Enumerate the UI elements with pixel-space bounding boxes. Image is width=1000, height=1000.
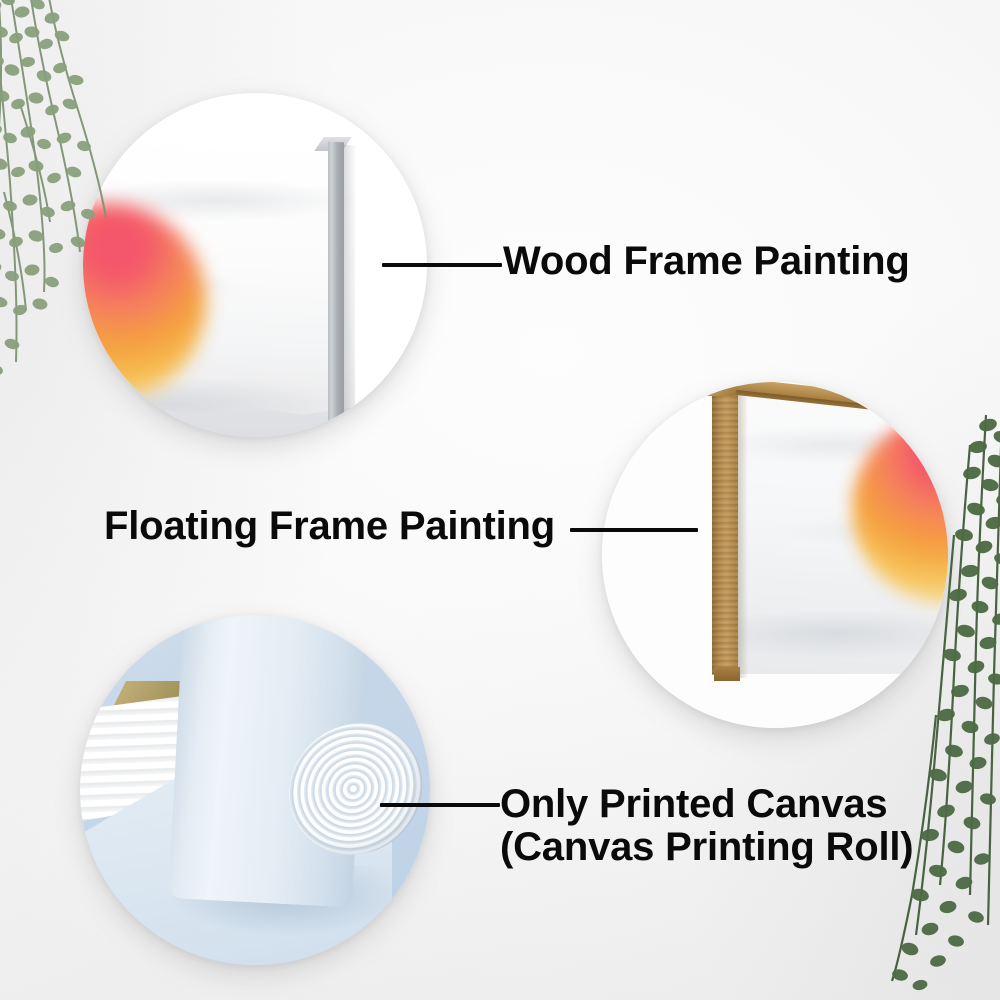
label-only-printed-canvas: Only Printed Canvas (Canvas Printing Rol… xyxy=(500,783,913,869)
wood-frame-left-rail xyxy=(712,385,738,676)
label-floating-frame-painting: Floating Frame Painting xyxy=(104,505,555,548)
label-wood-frame-painting: Wood Frame Painting xyxy=(503,240,910,283)
frame-gap-shadow xyxy=(738,386,748,678)
photo-inset-wood-frame xyxy=(83,93,427,437)
connector-line-floating-frame xyxy=(570,528,698,532)
floating-frame-photo xyxy=(602,382,948,728)
label-line-2: (Canvas Printing Roll) xyxy=(500,826,913,869)
connector-line-wood-frame xyxy=(382,263,502,267)
wrapped-canvas-photo xyxy=(83,93,427,437)
canvas-roll-photo xyxy=(80,615,430,965)
wood-frame-bottom-end xyxy=(714,667,740,681)
edge-drop-shadow xyxy=(344,145,356,437)
infographic-canvas: Wood Frame Painting Floating Frame Paint… xyxy=(0,0,1000,1000)
connector-line-canvas-roll xyxy=(380,803,500,807)
label-line-1: Only Printed Canvas xyxy=(500,782,887,826)
photo-inset-floating-frame xyxy=(602,382,948,728)
photo-inset-canvas-roll xyxy=(80,615,430,965)
canvas-wrapped-edge xyxy=(328,142,344,437)
